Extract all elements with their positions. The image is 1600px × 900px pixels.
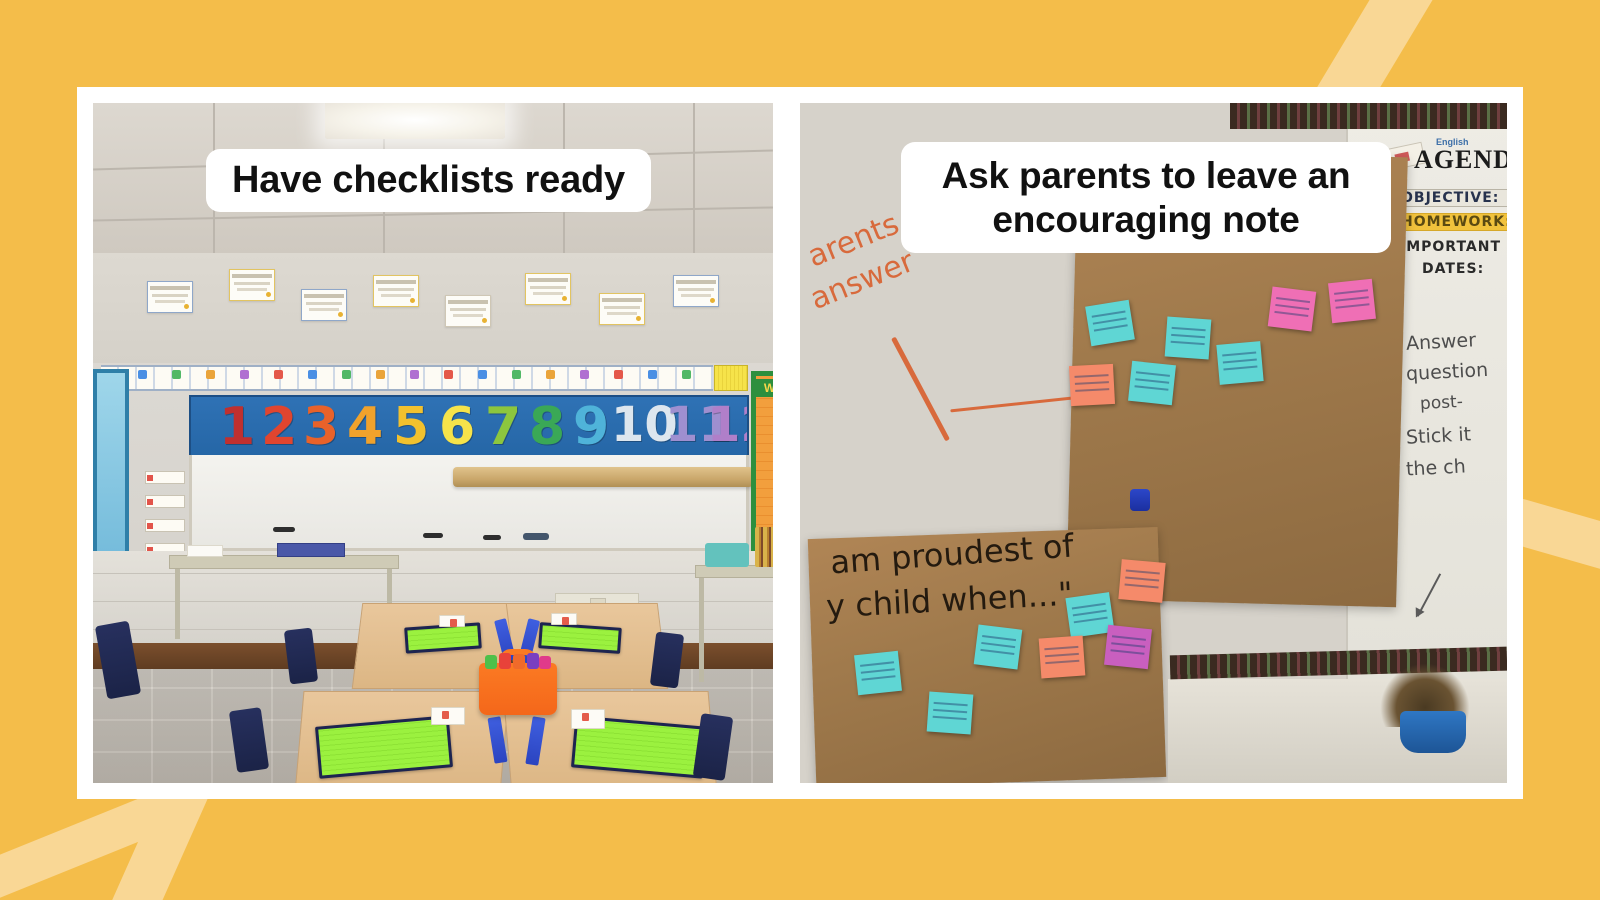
caption-have-checklists-ready: Have checklists ready [206,149,651,212]
sticky-note [1069,364,1115,406]
number-line-item: 1 [219,401,255,453]
habit-poster [599,293,645,325]
number-line-item: 12 [707,401,749,449]
sticky-note [1128,361,1176,405]
number-line-item: 4 [347,401,383,453]
number-line-item: 3 [303,401,339,453]
agenda-heading: AGENDA [1414,145,1507,179]
side-table [695,565,773,683]
habit-poster [373,275,419,307]
habit-poster [525,273,571,305]
blue-tack [1130,489,1148,511]
number-line-banner: 1 2 3 4 5 6 7 8 9 10 11 12 [189,395,749,459]
sticky-note [1104,625,1152,669]
habit-poster [147,281,193,313]
agenda-homework-line: HOMEWORK: [1396,213,1507,231]
name-card [439,615,465,627]
number-line-item: 7 [485,401,521,453]
whiteboard-note-line: post- [1420,392,1464,414]
student-desk-cluster [261,603,691,783]
whiteboard-note-line: the ch [1405,455,1466,480]
student-chair [650,631,684,688]
board-label [145,495,185,508]
alphabet-strip [101,365,713,391]
sticky-note [1165,317,1212,360]
parent-board-photo: English AGENDA OBJECTIVE: HOMEWORK: IMPO… [800,103,1507,783]
student-checklist [404,622,482,653]
pencil-cup [755,527,773,567]
upper-wall [93,253,773,363]
habit-poster [301,289,347,321]
whiteboard-note-line: question [1405,359,1488,385]
agenda-important-line: IMPORTANT [1396,239,1507,257]
name-card [431,707,465,725]
number-line-item: 5 [393,401,429,453]
sticky-note [1216,341,1263,385]
whiteboard-note-line: Answer [1405,329,1476,355]
paper-roll [453,467,753,487]
eraser [523,533,549,540]
caption-line-1: Ask parents to leave an [919,154,1373,198]
ceiling-light [325,103,505,139]
number-line-item: 9 [573,401,609,453]
bulletin-border-top [1230,103,1507,129]
supply-bin [705,543,749,567]
habit-poster [673,275,719,307]
name-card [571,709,605,729]
sticky-note [1118,559,1165,603]
caption-line-2: encouraging note [919,198,1373,242]
board-label [145,471,185,484]
habit-poster [229,269,275,301]
sticky-note [1039,636,1086,679]
agenda-dates-line: DATES: [1418,261,1507,279]
sticky-note [1085,300,1135,346]
number-line-item: 2 [261,401,297,453]
sticky-note [1328,279,1376,323]
whiteboard-note-line: Stick it [1405,423,1471,448]
hundreds-chart [714,365,748,391]
sticky-note [1268,286,1317,331]
sticky-note [927,692,974,735]
marker [273,527,295,532]
marker [483,535,501,540]
name-card [551,613,577,625]
student-chair [284,627,318,684]
background-swoosh-bottom-left-2 [0,782,196,900]
sticky-note [974,624,1023,669]
caption-ask-parents-note: Ask parents to leave an encouraging note [901,142,1391,253]
board-label [145,519,185,532]
number-line-item: 8 [529,401,565,453]
marker [423,533,443,538]
habit-poster [445,295,491,327]
sticky-note [854,651,902,695]
number-line-item: 6 [439,401,475,453]
classroom-photo: 1 2 3 4 5 6 7 8 9 10 11 12 [93,103,773,783]
agenda-objective-line: OBJECTIVE: [1396,189,1507,207]
plant-pot [1400,711,1466,753]
photo-row: 1 2 3 4 5 6 7 8 9 10 11 12 [93,103,1507,783]
photo-card: 1 2 3 4 5 6 7 8 9 10 11 12 [77,87,1523,799]
word-wall-label: WORD WALL [753,379,773,397]
supply-caddy [479,663,557,715]
